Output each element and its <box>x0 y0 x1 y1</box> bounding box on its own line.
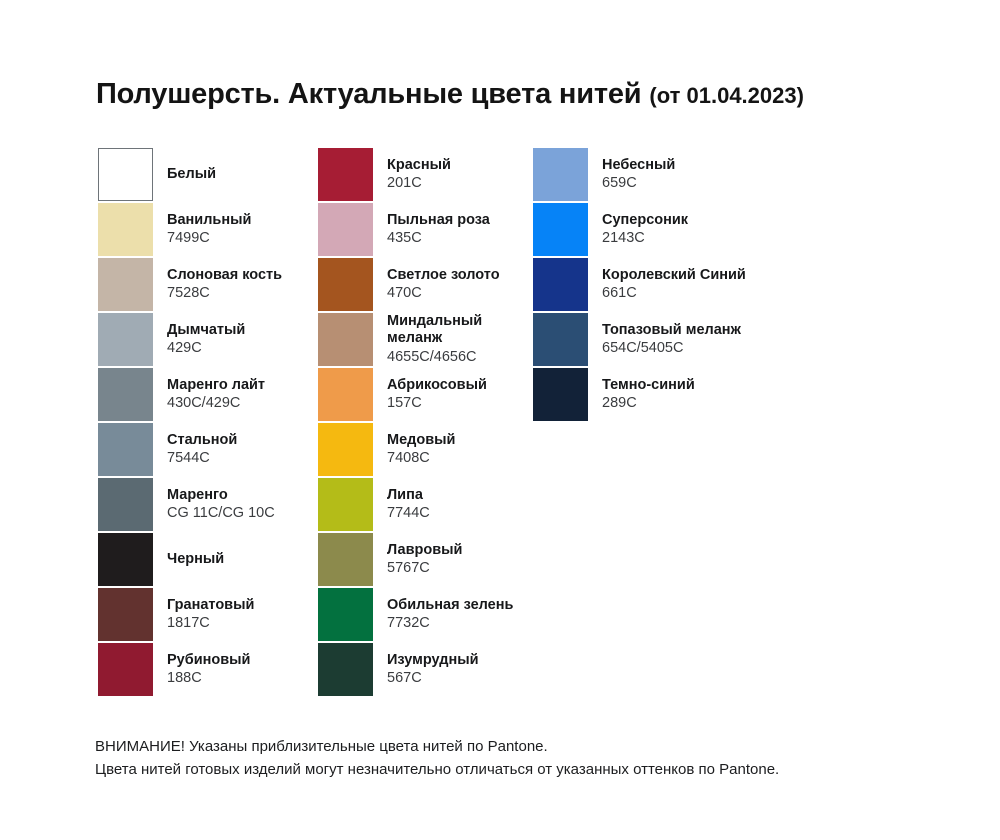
pantone-code: 659C <box>602 175 675 192</box>
color-name: Красный <box>387 157 451 174</box>
color-name: Маренго <box>167 487 275 504</box>
swatch-labels: Липа7744C <box>387 478 430 531</box>
swatch-row: Стальной7544C <box>98 423 328 478</box>
color-name: Рубиновый <box>167 652 250 669</box>
pantone-code: 157C <box>387 395 487 412</box>
swatch-labels: Светлое золото470C <box>387 258 500 311</box>
swatch-column-2: Красный201CПыльная роза435CСветлое золот… <box>318 148 548 698</box>
color-swatch <box>533 203 588 256</box>
pantone-code: 188C <box>167 670 250 687</box>
footer-line-2: Цвета нитей готовых изделий могут незнач… <box>95 758 779 781</box>
swatch-labels: Королевский Синий661C <box>602 258 746 311</box>
color-name: Липа <box>387 487 430 504</box>
color-swatch <box>98 203 153 256</box>
swatch-row: Небесный659C <box>533 148 763 203</box>
swatch-row: Черный <box>98 533 328 588</box>
color-swatch <box>98 258 153 311</box>
swatch-row: Миндальный меланж4655C/4656C <box>318 313 548 368</box>
pantone-code: 661C <box>602 285 746 302</box>
swatch-labels: Пыльная роза435C <box>387 203 490 256</box>
color-name: Топазовый меланж <box>602 322 741 339</box>
swatch-labels: Стальной7544C <box>167 423 237 476</box>
pantone-code: 7544C <box>167 450 237 467</box>
color-name: Обильная зелень <box>387 597 513 614</box>
swatch-row: МаренгоCG 11C/CG 10C <box>98 478 328 533</box>
pantone-code: 289C <box>602 395 695 412</box>
swatch-row: Изумрудный567C <box>318 643 548 698</box>
color-swatch <box>318 588 373 641</box>
swatch-labels: Миндальный меланж4655C/4656C <box>387 313 482 366</box>
pantone-code: 470C <box>387 285 500 302</box>
swatch-row: Темно-синий289C <box>533 368 763 423</box>
footer-line-1: ВНИМАНИЕ! Указаны приблизительные цвета … <box>95 735 779 758</box>
color-name: Ванильный <box>167 212 251 229</box>
swatch-labels: Суперсоник2143C <box>602 203 688 256</box>
color-name: Темно-синий <box>602 377 695 394</box>
color-name: Гранатовый <box>167 597 254 614</box>
swatch-labels: Слоновая кость7528C <box>167 258 282 311</box>
swatch-labels: Темно-синий289C <box>602 368 695 421</box>
swatch-labels: Белый <box>167 148 216 201</box>
pantone-code: 435C <box>387 230 490 247</box>
swatch-row: Ванильный7499C <box>98 203 328 258</box>
swatch-labels: Ванильный7499C <box>167 203 251 256</box>
swatch-row: Дымчатый429C <box>98 313 328 368</box>
page-title-main: Полушерсть. Актуальные цвета нитей <box>96 78 641 111</box>
swatch-labels: Медовый7408C <box>387 423 455 476</box>
color-swatch <box>318 368 373 421</box>
color-name: Миндальный меланж <box>387 313 482 347</box>
color-name: Светлое золото <box>387 267 500 284</box>
color-swatch <box>98 588 153 641</box>
color-swatch <box>318 478 373 531</box>
color-swatch <box>98 533 153 586</box>
color-name: Королевский Синий <box>602 267 746 284</box>
pantone-code: 430C/429C <box>167 395 265 412</box>
swatch-row: Лавровый5767C <box>318 533 548 588</box>
swatch-column-1: БелыйВанильный7499CСлоновая кость7528CДы… <box>98 148 328 698</box>
pantone-code: 7528C <box>167 285 282 302</box>
color-name: Маренго лайт <box>167 377 265 394</box>
pantone-code: 1817C <box>167 615 254 632</box>
pantone-code: CG 11C/CG 10C <box>167 505 275 522</box>
swatch-labels: Черный <box>167 533 224 586</box>
color-name: Лавровый <box>387 542 462 559</box>
swatch-column-3: Небесный659CСуперсоник2143CКоролевский С… <box>533 148 763 423</box>
pantone-code: 7732C <box>387 615 513 632</box>
color-swatch <box>98 148 153 201</box>
pantone-code: 2143C <box>602 230 688 247</box>
color-swatch <box>318 423 373 476</box>
color-swatch <box>318 258 373 311</box>
swatch-row: Светлое золото470C <box>318 258 548 313</box>
footer-note: ВНИМАНИЕ! Указаны приблизительные цвета … <box>95 735 779 782</box>
color-name: Черный <box>167 551 224 568</box>
swatch-row: Топазовый меланж654C/5405C <box>533 313 763 368</box>
swatch-labels: Рубиновый188C <box>167 643 250 696</box>
swatch-row: Абрикосовый157C <box>318 368 548 423</box>
swatch-labels: Красный201C <box>387 148 451 201</box>
swatch-row: Красный201C <box>318 148 548 203</box>
pantone-code: 429C <box>167 340 245 357</box>
pantone-code: 5767C <box>387 560 462 577</box>
pantone-code: 654C/5405C <box>602 340 741 357</box>
color-swatch <box>318 643 373 696</box>
swatch-labels: Лавровый5767C <box>387 533 462 586</box>
pantone-code: 7408C <box>387 450 455 467</box>
swatch-labels: Топазовый меланж654C/5405C <box>602 313 741 366</box>
color-swatch <box>318 148 373 201</box>
swatch-row: Суперсоник2143C <box>533 203 763 258</box>
pantone-code: 7744C <box>387 505 430 522</box>
color-name: Медовый <box>387 432 455 449</box>
color-name: Дымчатый <box>167 322 245 339</box>
page-title: Полушерсть. Актуальные цвета нитей (от 0… <box>96 78 804 111</box>
color-swatch <box>98 313 153 366</box>
swatch-row: Маренго лайт430C/429C <box>98 368 328 423</box>
color-swatch <box>533 148 588 201</box>
swatch-labels: Гранатовый1817C <box>167 588 254 641</box>
color-name: Суперсоник <box>602 212 688 229</box>
swatch-labels: Небесный659C <box>602 148 675 201</box>
swatch-labels: Изумрудный567C <box>387 643 479 696</box>
color-name: Небесный <box>602 157 675 174</box>
color-name: Слоновая кость <box>167 267 282 284</box>
swatch-row: Медовый7408C <box>318 423 548 478</box>
swatch-labels: Абрикосовый157C <box>387 368 487 421</box>
pantone-code: 7499C <box>167 230 251 247</box>
swatch-row: Гранатовый1817C <box>98 588 328 643</box>
pantone-code: 4655C/4656C <box>387 349 482 366</box>
color-swatch <box>98 368 153 421</box>
pantone-code: 201C <box>387 175 451 192</box>
swatch-row: Липа7744C <box>318 478 548 533</box>
swatch-row: Слоновая кость7528C <box>98 258 328 313</box>
swatch-labels: Дымчатый429C <box>167 313 245 366</box>
color-name: Абрикосовый <box>387 377 487 394</box>
swatch-labels: Обильная зелень7732C <box>387 588 513 641</box>
color-name: Изумрудный <box>387 652 479 669</box>
color-swatch <box>533 313 588 366</box>
color-swatch <box>98 423 153 476</box>
color-swatch <box>318 533 373 586</box>
swatch-row: Королевский Синий661C <box>533 258 763 313</box>
color-chart-page: Полушерсть. Актуальные цвета нитей (от 0… <box>0 0 1000 840</box>
swatch-row: Белый <box>98 148 328 203</box>
color-name: Белый <box>167 166 216 183</box>
swatch-row: Пыльная роза435C <box>318 203 548 258</box>
swatch-row: Рубиновый188C <box>98 643 328 698</box>
color-swatch <box>318 203 373 256</box>
page-title-date: (от 01.04.2023) <box>649 83 804 109</box>
color-swatch <box>98 643 153 696</box>
pantone-code: 567C <box>387 670 479 687</box>
color-swatch <box>98 478 153 531</box>
color-swatch <box>533 368 588 421</box>
color-name: Пыльная роза <box>387 212 490 229</box>
color-swatch <box>318 313 373 366</box>
color-swatch <box>533 258 588 311</box>
color-name: Стальной <box>167 432 237 449</box>
swatch-row: Обильная зелень7732C <box>318 588 548 643</box>
swatch-labels: Маренго лайт430C/429C <box>167 368 265 421</box>
swatch-labels: МаренгоCG 11C/CG 10C <box>167 478 275 531</box>
